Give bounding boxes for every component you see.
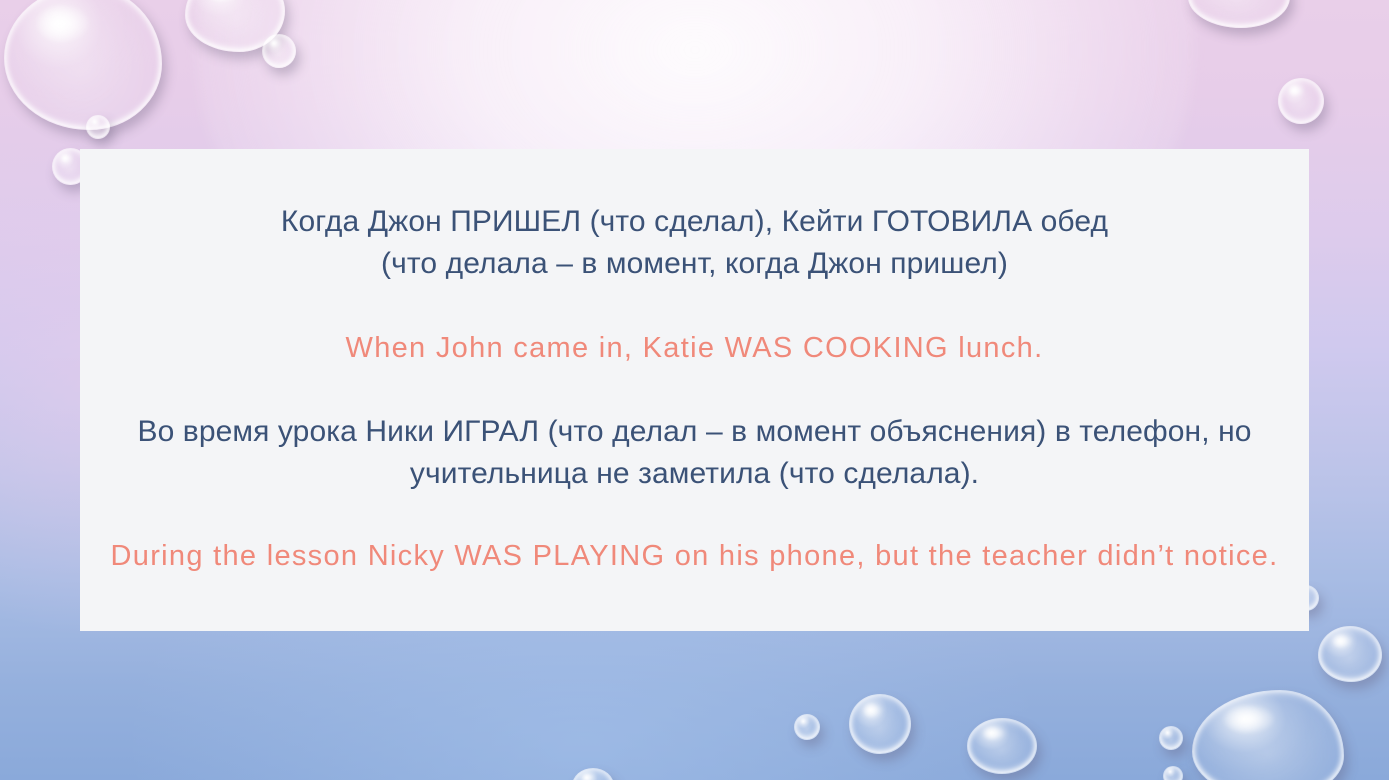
text-block-russian-1: Когда Джон ПРИШЕЛ (что сделал), Кейти ГО…: [98, 201, 1291, 285]
water-drop-icon: [1159, 726, 1183, 750]
water-drop-icon: [1318, 626, 1382, 682]
text-line: Во время урока Ники ИГРАЛ (что делал – в…: [98, 411, 1291, 495]
water-drop-icon: [1278, 78, 1324, 124]
paragraph-spacer: [98, 369, 1291, 411]
presentation-slide: Когда Джон ПРИШЕЛ (что сделал), Кейти ГО…: [0, 0, 1389, 780]
water-drop-icon: [967, 718, 1037, 774]
text-line: During the lesson Nicky WAS PLAYING on h…: [98, 535, 1291, 577]
text-line: Когда Джон ПРИШЕЛ (что сделал), Кейти ГО…: [98, 201, 1291, 243]
text-block-english-1: When John came in, Katie WAS COOKING lun…: [98, 327, 1291, 369]
content-panel: Когда Джон ПРИШЕЛ (что сделал), Кейти ГО…: [80, 149, 1309, 631]
text-block-russian-2: Во время урока Ники ИГРАЛ (что делал – в…: [98, 411, 1291, 495]
paragraph-spacer: [98, 285, 1291, 327]
water-drop-icon: [1163, 766, 1183, 780]
water-drop-icon: [262, 34, 296, 68]
paragraph-spacer: [98, 495, 1291, 535]
water-drop-icon: [849, 694, 911, 754]
text-line: When John came in, Katie WAS COOKING lun…: [98, 327, 1291, 369]
text-line: (что делала – в момент, когда Джон прише…: [98, 243, 1291, 285]
water-drop-icon: [86, 115, 110, 139]
text-block-english-2: During the lesson Nicky WAS PLAYING on h…: [98, 535, 1291, 577]
water-drop-icon: [794, 714, 820, 740]
